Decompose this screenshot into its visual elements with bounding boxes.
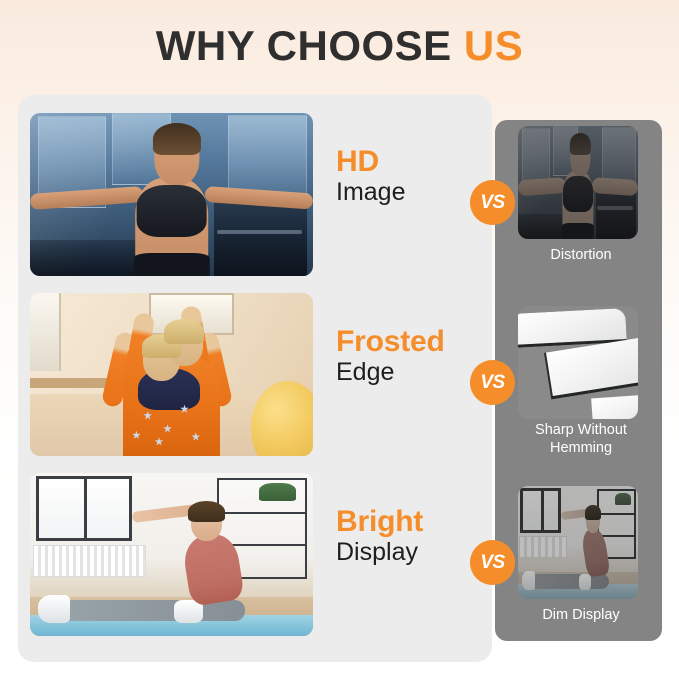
- feature-label-accent: Frosted: [336, 326, 486, 357]
- feature-label: Frosted Edge: [336, 326, 486, 385]
- panel-sheet: [592, 394, 638, 419]
- shoe: [579, 574, 591, 590]
- potted-plant: [259, 483, 296, 501]
- gym-woman-scene-dim: [518, 126, 638, 239]
- good-photo-bright-display: [30, 473, 313, 636]
- bad-photo-sharp-edge: [518, 306, 638, 419]
- legs: [47, 600, 245, 621]
- hair: [585, 505, 601, 520]
- feature-label-subtext: Display: [336, 539, 486, 565]
- page-title-primary: WHY CHOOSE: [156, 22, 452, 69]
- feature-label-accent: Bright: [336, 506, 486, 537]
- bad-caption: Dim Display: [507, 606, 655, 624]
- comparison-row: HD Image VS Distortion: [0, 108, 679, 288]
- radiator: [33, 545, 146, 578]
- hair: [153, 123, 201, 156]
- shorts: [133, 253, 209, 276]
- yoga-woman-scene-dim: [518, 486, 638, 599]
- legs: [525, 574, 609, 589]
- feature-label: HD Image: [336, 146, 486, 205]
- page-title-accent: US: [464, 22, 523, 69]
- panel-sheet: [544, 336, 638, 400]
- vs-badge: VS: [470, 540, 515, 585]
- sharp-edge-panels-scene: [518, 306, 638, 419]
- right-arm: [592, 177, 638, 196]
- barbell: [597, 206, 633, 210]
- child-hair: [164, 319, 204, 343]
- window: [520, 488, 561, 533]
- bad-photo-dim-display: [518, 486, 638, 599]
- barbell: [217, 230, 302, 234]
- weight-rack: [214, 201, 307, 276]
- bad-caption: Sharp Without Hemming: [507, 421, 655, 457]
- comparison-row: Frosted Edge VS Sharp Without Hemming: [0, 288, 679, 468]
- bad-caption: Distortion: [507, 246, 655, 264]
- page-title: WHY CHOOSE US: [0, 22, 679, 70]
- bad-photo-distortion: [518, 126, 638, 239]
- potted-plant: [615, 493, 631, 505]
- gym-woman-scene: [30, 113, 313, 276]
- shoe: [38, 595, 69, 623]
- children-playing-scene: [30, 293, 313, 456]
- vs-badge: VS: [470, 180, 515, 225]
- sports-bra: [563, 176, 593, 212]
- hair: [188, 501, 225, 522]
- feature-label-subtext: Edge: [336, 359, 486, 385]
- feature-label-subtext: Image: [336, 179, 486, 205]
- feature-label-accent: HD: [336, 146, 486, 177]
- mirror: [30, 293, 61, 371]
- yoga-woman-scene: [30, 473, 313, 636]
- shoe: [522, 571, 535, 590]
- window-pane: [228, 115, 307, 200]
- good-photo-frosted-edge: [30, 293, 313, 456]
- left-arm: [518, 177, 567, 196]
- shorts: [562, 223, 594, 239]
- sports-bra: [136, 185, 207, 237]
- hair: [570, 133, 590, 156]
- radiator: [519, 536, 567, 559]
- comparison-row: Bright Display VS Dim Display: [0, 468, 679, 648]
- vs-badge: VS: [470, 360, 515, 405]
- feature-label: Bright Display: [336, 506, 486, 565]
- good-photo-hd-image: [30, 113, 313, 276]
- window: [36, 476, 132, 541]
